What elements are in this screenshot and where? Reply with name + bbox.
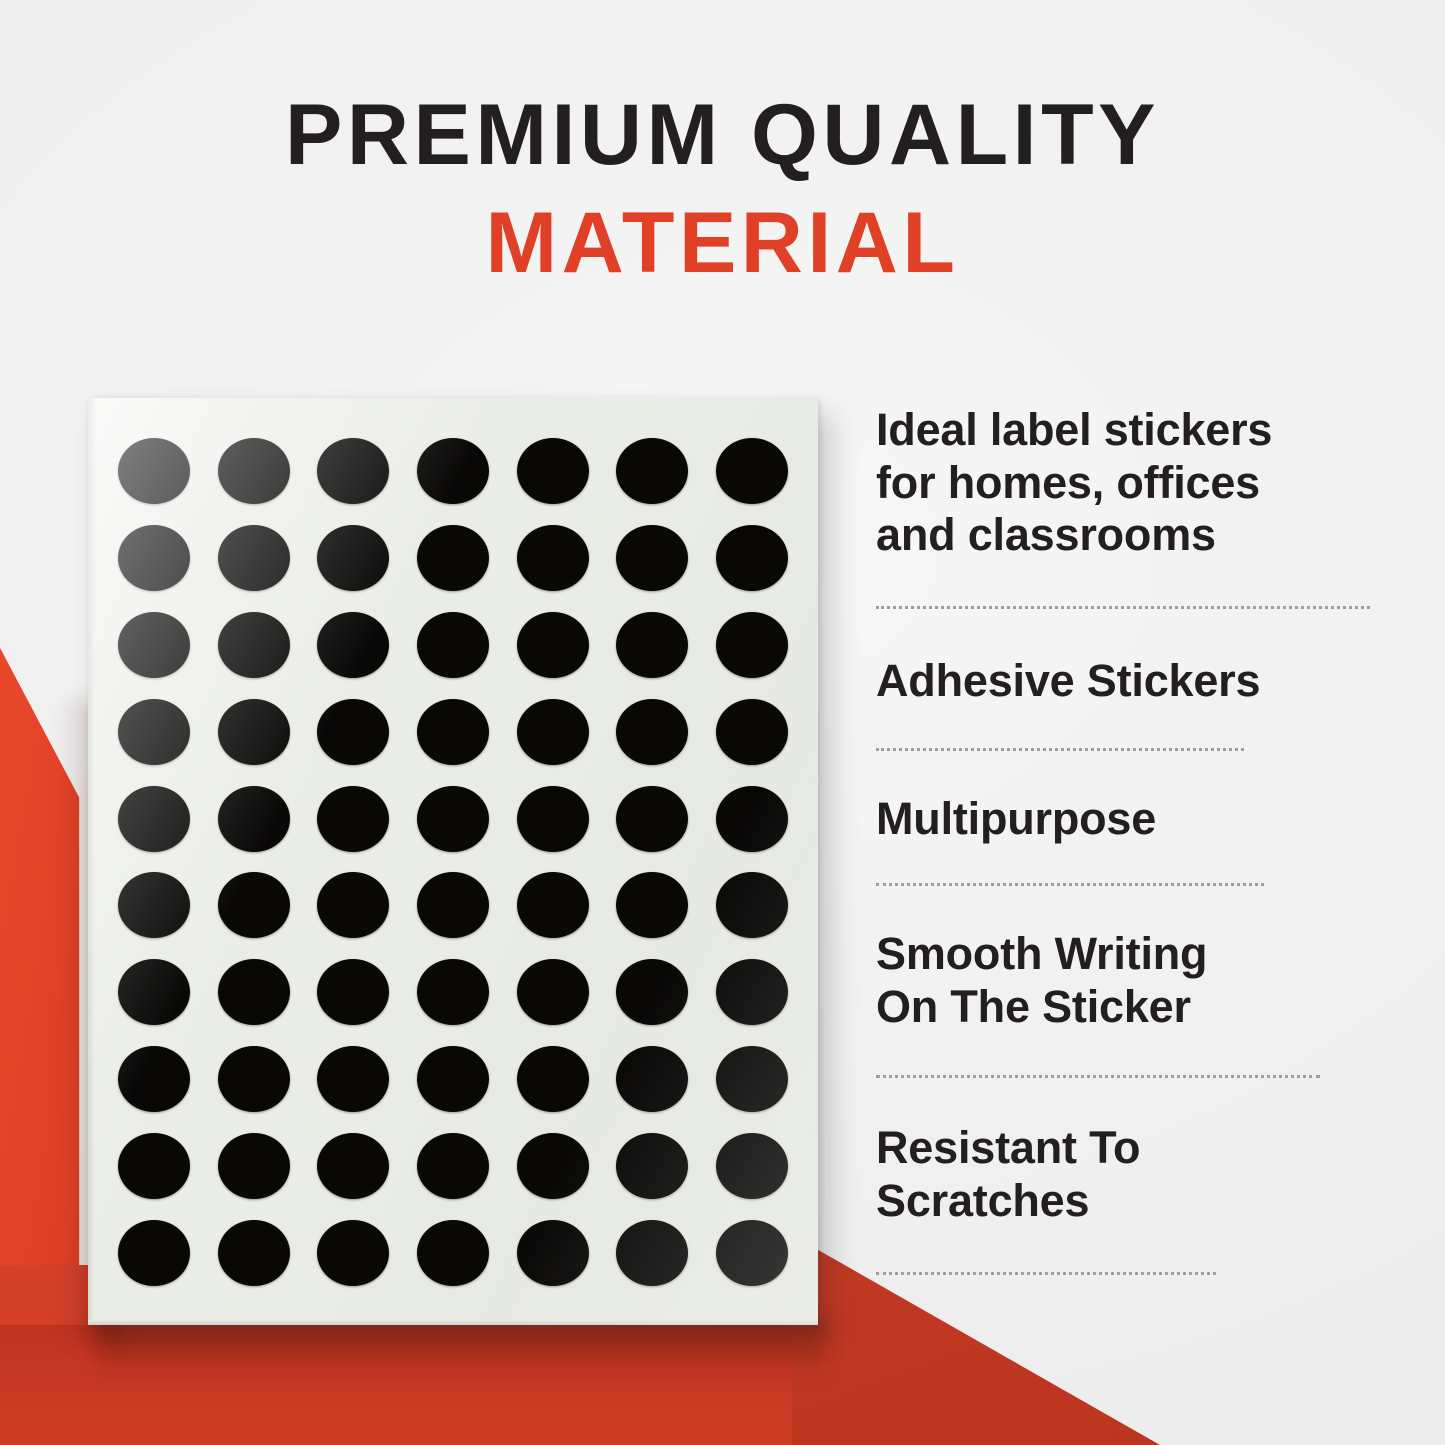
sticker-dot bbox=[616, 699, 688, 765]
sticker-dot bbox=[616, 525, 688, 591]
sticker-dot bbox=[517, 1046, 589, 1112]
sticker-dot bbox=[716, 612, 788, 678]
sticker-dot bbox=[218, 612, 290, 678]
sticker-dot bbox=[317, 786, 389, 852]
sticker-dot bbox=[218, 786, 290, 852]
sticker-dot bbox=[118, 438, 190, 504]
sticker-dot bbox=[118, 786, 190, 852]
page-title: PREMIUM QUALITY MATERIAL bbox=[0, 92, 1445, 286]
sticker-dot bbox=[417, 786, 489, 852]
feature-item-3: Multipurpose bbox=[876, 793, 1396, 846]
sticker-dot bbox=[317, 525, 389, 591]
sticker-dot bbox=[716, 1046, 788, 1112]
product-sticker-sheet bbox=[88, 398, 818, 1325]
feature-divider-3 bbox=[876, 883, 1264, 886]
sticker-dot bbox=[317, 872, 389, 938]
sticker-dot bbox=[417, 1133, 489, 1199]
sticker-dot bbox=[517, 786, 589, 852]
title-line-accent: MATERIAL bbox=[0, 200, 1445, 286]
sticker-dot bbox=[417, 1220, 489, 1286]
sticker-dot bbox=[417, 1046, 489, 1112]
sticker-dot bbox=[118, 612, 190, 678]
sticker-dot-grid bbox=[104, 428, 802, 1296]
sticker-dot bbox=[517, 1133, 589, 1199]
sticker-dot bbox=[517, 438, 589, 504]
feature-divider-1 bbox=[876, 606, 1370, 609]
sticker-dot bbox=[616, 438, 688, 504]
sticker-dot bbox=[417, 959, 489, 1025]
sticker-dot bbox=[616, 959, 688, 1025]
sticker-dot bbox=[317, 959, 389, 1025]
sticker-dot bbox=[716, 438, 788, 504]
sticker-dot bbox=[517, 872, 589, 938]
sheet-edge-left-icon bbox=[88, 398, 95, 1325]
sticker-dot bbox=[716, 959, 788, 1025]
title-line-primary: PREMIUM QUALITY bbox=[0, 92, 1445, 178]
sticker-dot bbox=[118, 1133, 190, 1199]
sticker-dot bbox=[317, 1220, 389, 1286]
sticker-dot bbox=[118, 525, 190, 591]
sticker-dot bbox=[517, 699, 589, 765]
sticker-dot bbox=[218, 872, 290, 938]
feature-divider-5 bbox=[876, 1272, 1216, 1275]
sticker-dot bbox=[218, 699, 290, 765]
sticker-dot bbox=[218, 1220, 290, 1286]
feature-item-1: Ideal label stickers for homes, offices … bbox=[876, 404, 1396, 562]
sheet-shadow-bottom bbox=[96, 1320, 826, 1382]
feature-divider-4 bbox=[876, 1075, 1320, 1078]
sticker-dot bbox=[118, 959, 190, 1025]
sticker-dot bbox=[417, 612, 489, 678]
sticker-dot bbox=[517, 612, 589, 678]
feature-item-5: Resistant To Scratches bbox=[876, 1122, 1396, 1227]
sticker-dot bbox=[417, 438, 489, 504]
sticker-dot bbox=[118, 1220, 190, 1286]
sticker-dot bbox=[517, 1220, 589, 1286]
sticker-dot bbox=[716, 525, 788, 591]
sticker-dot bbox=[716, 1133, 788, 1199]
sticker-dot bbox=[616, 1046, 688, 1112]
feature-item-4: Smooth Writing On The Sticker bbox=[876, 928, 1396, 1033]
sticker-dot bbox=[317, 438, 389, 504]
sticker-dot bbox=[616, 1220, 688, 1286]
sticker-dot bbox=[517, 959, 589, 1025]
sticker-dot bbox=[417, 872, 489, 938]
sticker-dot bbox=[417, 525, 489, 591]
sticker-dot bbox=[716, 699, 788, 765]
sticker-dot bbox=[517, 525, 589, 591]
sticker-dot bbox=[417, 699, 489, 765]
sticker-dot bbox=[616, 612, 688, 678]
sticker-dot bbox=[118, 872, 190, 938]
sticker-dot bbox=[716, 872, 788, 938]
sticker-dot bbox=[716, 786, 788, 852]
sticker-dot bbox=[616, 1133, 688, 1199]
sticker-dot bbox=[218, 525, 290, 591]
feature-divider-2 bbox=[876, 748, 1244, 751]
feature-item-2: Adhesive Stickers bbox=[876, 655, 1396, 708]
sticker-dot bbox=[118, 1046, 190, 1112]
sticker-dot bbox=[317, 612, 389, 678]
sticker-dot bbox=[218, 1046, 290, 1112]
sticker-dot bbox=[616, 872, 688, 938]
sticker-dot bbox=[118, 699, 190, 765]
sticker-dot bbox=[218, 1133, 290, 1199]
sticker-dot bbox=[317, 1133, 389, 1199]
sticker-dot bbox=[317, 1046, 389, 1112]
sticker-dot bbox=[218, 438, 290, 504]
feature-list: Ideal label stickers for homes, offices … bbox=[876, 404, 1396, 1275]
sticker-dot bbox=[317, 699, 389, 765]
sheet-edge-bottom-icon bbox=[88, 1320, 818, 1325]
sticker-dot bbox=[716, 1220, 788, 1286]
sticker-dot bbox=[616, 786, 688, 852]
infographic-canvas: PREMIUM QUALITY MATERIAL Ideal label sti… bbox=[0, 0, 1445, 1445]
sticker-dot bbox=[218, 959, 290, 1025]
